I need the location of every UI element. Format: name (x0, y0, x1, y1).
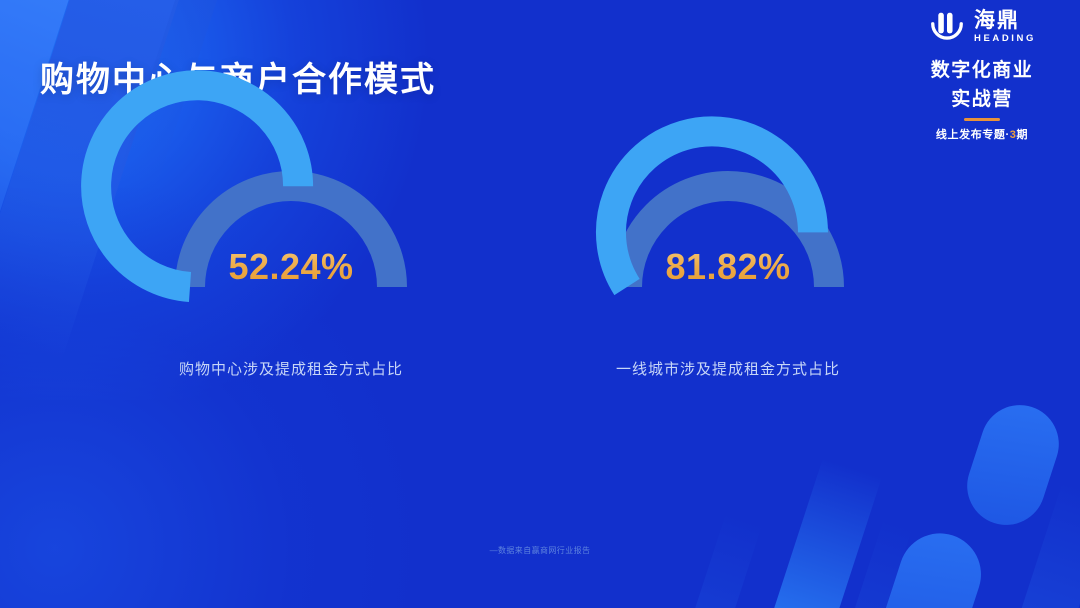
gauge-value-0: 52.24% (160, 246, 422, 288)
gauge-value-1: 81.82% (597, 246, 859, 288)
heading-logo-mark-icon (928, 8, 966, 46)
brand-logo: 海鼎 HEADING 数字化商业 实战营 线上发布专题·3期 (902, 8, 1062, 142)
slide-canvas: 购物中心与商户合作模式 海鼎 HEADING 数字化商业 实战营 线上发布专题·… (0, 0, 1080, 608)
logo-wordmark: 海鼎 HEADING (974, 10, 1036, 44)
logo-brand-cn: 海鼎 (974, 10, 1036, 31)
logo-line-4: 线上发布专题·3期 (902, 126, 1062, 142)
decor-pill-2 (870, 523, 991, 608)
logo-top-row: 海鼎 HEADING (902, 8, 1062, 46)
decor-stripe-right-1 (640, 464, 778, 608)
logo-divider (964, 118, 1000, 121)
logo-line-2: 数字化商业 (902, 55, 1062, 82)
gauge-caption-0: 购物中心涉及提成租金方式占比 (179, 358, 403, 379)
gauge-chart-1: 81.82% 一线城市涉及提成租金方式占比 (597, 168, 859, 302)
decor-stripe-right-4 (960, 437, 1080, 608)
logo-brand-en: HEADING (974, 34, 1036, 44)
decor-stripe-right-2 (706, 409, 898, 608)
decor-pill-1 (957, 395, 1069, 535)
logo-line-3: 实战营 (902, 84, 1062, 111)
source-footnote: —数据来自赢商网行业报告 (0, 545, 1080, 556)
gauge-chart-0: 52.24% 购物中心涉及提成租金方式占比 (160, 168, 422, 302)
gauge-caption-1: 一线城市涉及提成租金方式占比 (616, 358, 840, 379)
decor-stripe-right-3 (790, 466, 930, 608)
logo-line-4-suffix: 期 (1016, 129, 1028, 141)
logo-line-4-prefix: 线上发布专题· (936, 129, 1010, 141)
